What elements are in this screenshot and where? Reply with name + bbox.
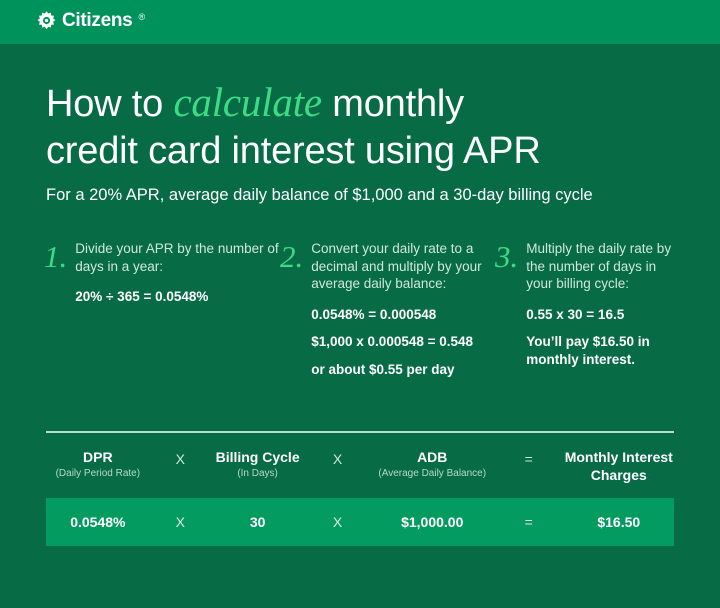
step-number: 2. bbox=[280, 240, 303, 272]
headline-accent-word: calculate bbox=[173, 79, 321, 125]
step-description: Multiply the daily rate by the number of… bbox=[526, 240, 684, 293]
step-calculation: $1,000 x 0.000548 = 0.548 bbox=[311, 333, 495, 351]
table-column-header-billing-cycle: Billing Cycle (In Days) bbox=[211, 448, 304, 481]
step-item-1: 1. Divide your APR by the number of days… bbox=[44, 240, 280, 378]
citizens-gear-logo-icon bbox=[36, 10, 57, 31]
cell-value: $1,000.00 bbox=[371, 513, 494, 531]
headline-line1-before: How to bbox=[46, 83, 173, 125]
brand-lockup[interactable]: Citizens ® bbox=[36, 10, 145, 31]
infographic-canvas: Citizens ® How to calculate monthly cred… bbox=[0, 0, 720, 608]
step-calculation: You’ll pay $16.50 in monthly interest. bbox=[526, 333, 684, 368]
column-title: Monthly Interest Charges bbox=[564, 448, 674, 484]
step-calculation: 0.55 x 30 = 16.5 bbox=[526, 306, 684, 324]
table-row: 0.0548% X 30 X $1,000.00 = $16.50 bbox=[46, 498, 674, 546]
table-cell-billing-cycle: 30 bbox=[211, 513, 304, 531]
table-cell-dpr: 0.0548% bbox=[46, 513, 150, 531]
cell-value: 30 bbox=[211, 513, 304, 531]
table-column-header-adb: ADB (Average Daily Balance) bbox=[371, 448, 494, 481]
step-description: Convert your daily rate to a decimal and… bbox=[311, 240, 495, 293]
operator-symbol: X bbox=[150, 513, 211, 531]
step-number: 3. bbox=[495, 240, 518, 272]
headline-line1-after: monthly bbox=[322, 83, 464, 125]
brand-name: Citizens bbox=[62, 10, 132, 31]
step-description: Divide your APR by the number of days in… bbox=[75, 240, 280, 275]
column-subtitle: (In Days) bbox=[211, 467, 304, 481]
operator-symbol: = bbox=[494, 448, 564, 468]
step-content: Divide your APR by the number of days in… bbox=[75, 240, 280, 306]
header-bar: Citizens ® bbox=[0, 0, 720, 44]
step-item-2: 2. Convert your daily rate to a decimal … bbox=[280, 240, 495, 378]
table-cell-operator-2: X bbox=[304, 513, 370, 531]
table-operator-multiply-2: X bbox=[304, 448, 370, 468]
table-cell-adb: $1,000.00 bbox=[371, 513, 494, 531]
cell-value: 0.0548% bbox=[46, 513, 150, 531]
table-operator-equals: = bbox=[494, 448, 564, 468]
section-divider bbox=[46, 431, 674, 433]
page-subtitle: For a 20% APR, average daily balance of … bbox=[46, 184, 696, 206]
step-calculation: or about $0.55 per day bbox=[311, 361, 495, 379]
operator-symbol: X bbox=[304, 448, 370, 468]
headline-line2: credit card interest using APR bbox=[46, 130, 541, 172]
operator-symbol: = bbox=[494, 513, 564, 531]
operator-symbol: X bbox=[304, 513, 370, 531]
table-cell-operator-3: = bbox=[494, 513, 564, 531]
table-column-header-dpr: DPR (Daily Period Rate) bbox=[46, 448, 150, 481]
table-cell-monthly-interest: $16.50 bbox=[564, 513, 674, 531]
step-number: 1. bbox=[44, 240, 67, 272]
step-content: Convert your daily rate to a decimal and… bbox=[311, 240, 495, 378]
column-title: ADB bbox=[371, 448, 494, 466]
column-title: DPR bbox=[46, 448, 150, 466]
operator-symbol: X bbox=[150, 448, 211, 468]
table-header-row: DPR (Daily Period Rate) X Billing Cycle … bbox=[46, 448, 674, 484]
step-content: Multiply the daily rate by the number of… bbox=[526, 240, 684, 368]
table-cell-operator-1: X bbox=[150, 513, 211, 531]
cell-value: $16.50 bbox=[564, 513, 674, 531]
page-title: How to calculate monthly credit card int… bbox=[46, 79, 686, 175]
column-subtitle: (Average Daily Balance) bbox=[371, 467, 494, 481]
column-subtitle: (Daily Period Rate) bbox=[46, 467, 150, 481]
step-calculation: 0.0548% = 0.000548 bbox=[311, 306, 495, 324]
table-operator-multiply-1: X bbox=[150, 448, 211, 468]
table-column-header-monthly-interest: Monthly Interest Charges bbox=[564, 448, 674, 484]
step-calculation: 20% ÷ 365 = 0.0548% bbox=[75, 288, 280, 306]
column-title: Billing Cycle bbox=[211, 448, 304, 466]
brand-trademark: ® bbox=[138, 13, 145, 22]
steps-list: 1. Divide your APR by the number of days… bbox=[44, 240, 684, 378]
step-item-3: 3. Multiply the daily rate by the number… bbox=[495, 240, 684, 378]
formula-table: DPR (Daily Period Rate) X Billing Cycle … bbox=[46, 448, 674, 546]
